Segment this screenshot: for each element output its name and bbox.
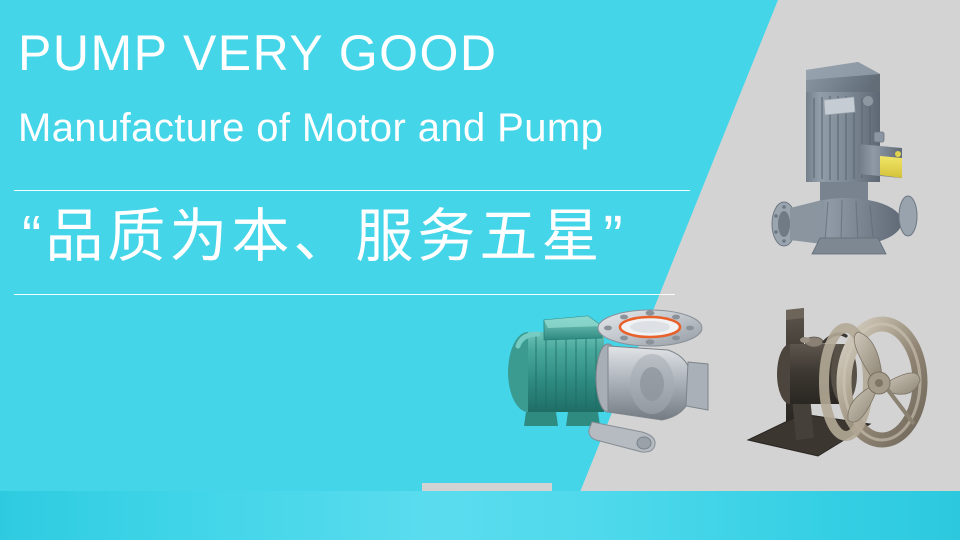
motor-nameplate: [824, 97, 855, 115]
suction-neck: [790, 200, 822, 244]
product-image-vertical-inline-pump: [762, 48, 932, 258]
propeller-blade-1: [854, 332, 882, 378]
divider-top: [14, 190, 690, 191]
guide-post-top: [786, 308, 804, 320]
suction-flange: [686, 362, 708, 410]
flange-bore: [630, 321, 670, 333]
base-bolt-hole: [637, 437, 651, 449]
product-image-submersible-mixer: [742, 298, 947, 480]
motor-foot-left: [524, 412, 558, 426]
pump-base: [812, 238, 886, 254]
page-title: PUMP VERY GOOD: [18, 28, 497, 78]
terminal-knob: [895, 151, 901, 157]
yellow-terminal-cover: [880, 156, 902, 178]
product-image-horizontal-centrifugal-pump: [492, 306, 727, 461]
suction-port: [778, 211, 790, 237]
terminal-box-lid: [544, 316, 602, 328]
lifting-eye: [800, 337, 810, 343]
bottom-gradient-strip: [0, 491, 960, 540]
cable-gland: [874, 132, 884, 142]
promo-banner: PUMP VERY GOOD Manufacture of Motor and …: [0, 0, 960, 540]
volute-hub: [640, 367, 664, 401]
discharge-flange: [899, 196, 917, 236]
propeller-hub-center: [875, 379, 883, 387]
motor-badge: [863, 96, 874, 107]
divider-bottom: [14, 294, 675, 295]
slogan-text: “品质为本、服务五星”: [22, 201, 627, 274]
page-subtitle: Manufacture of Motor and Pump: [18, 106, 603, 150]
